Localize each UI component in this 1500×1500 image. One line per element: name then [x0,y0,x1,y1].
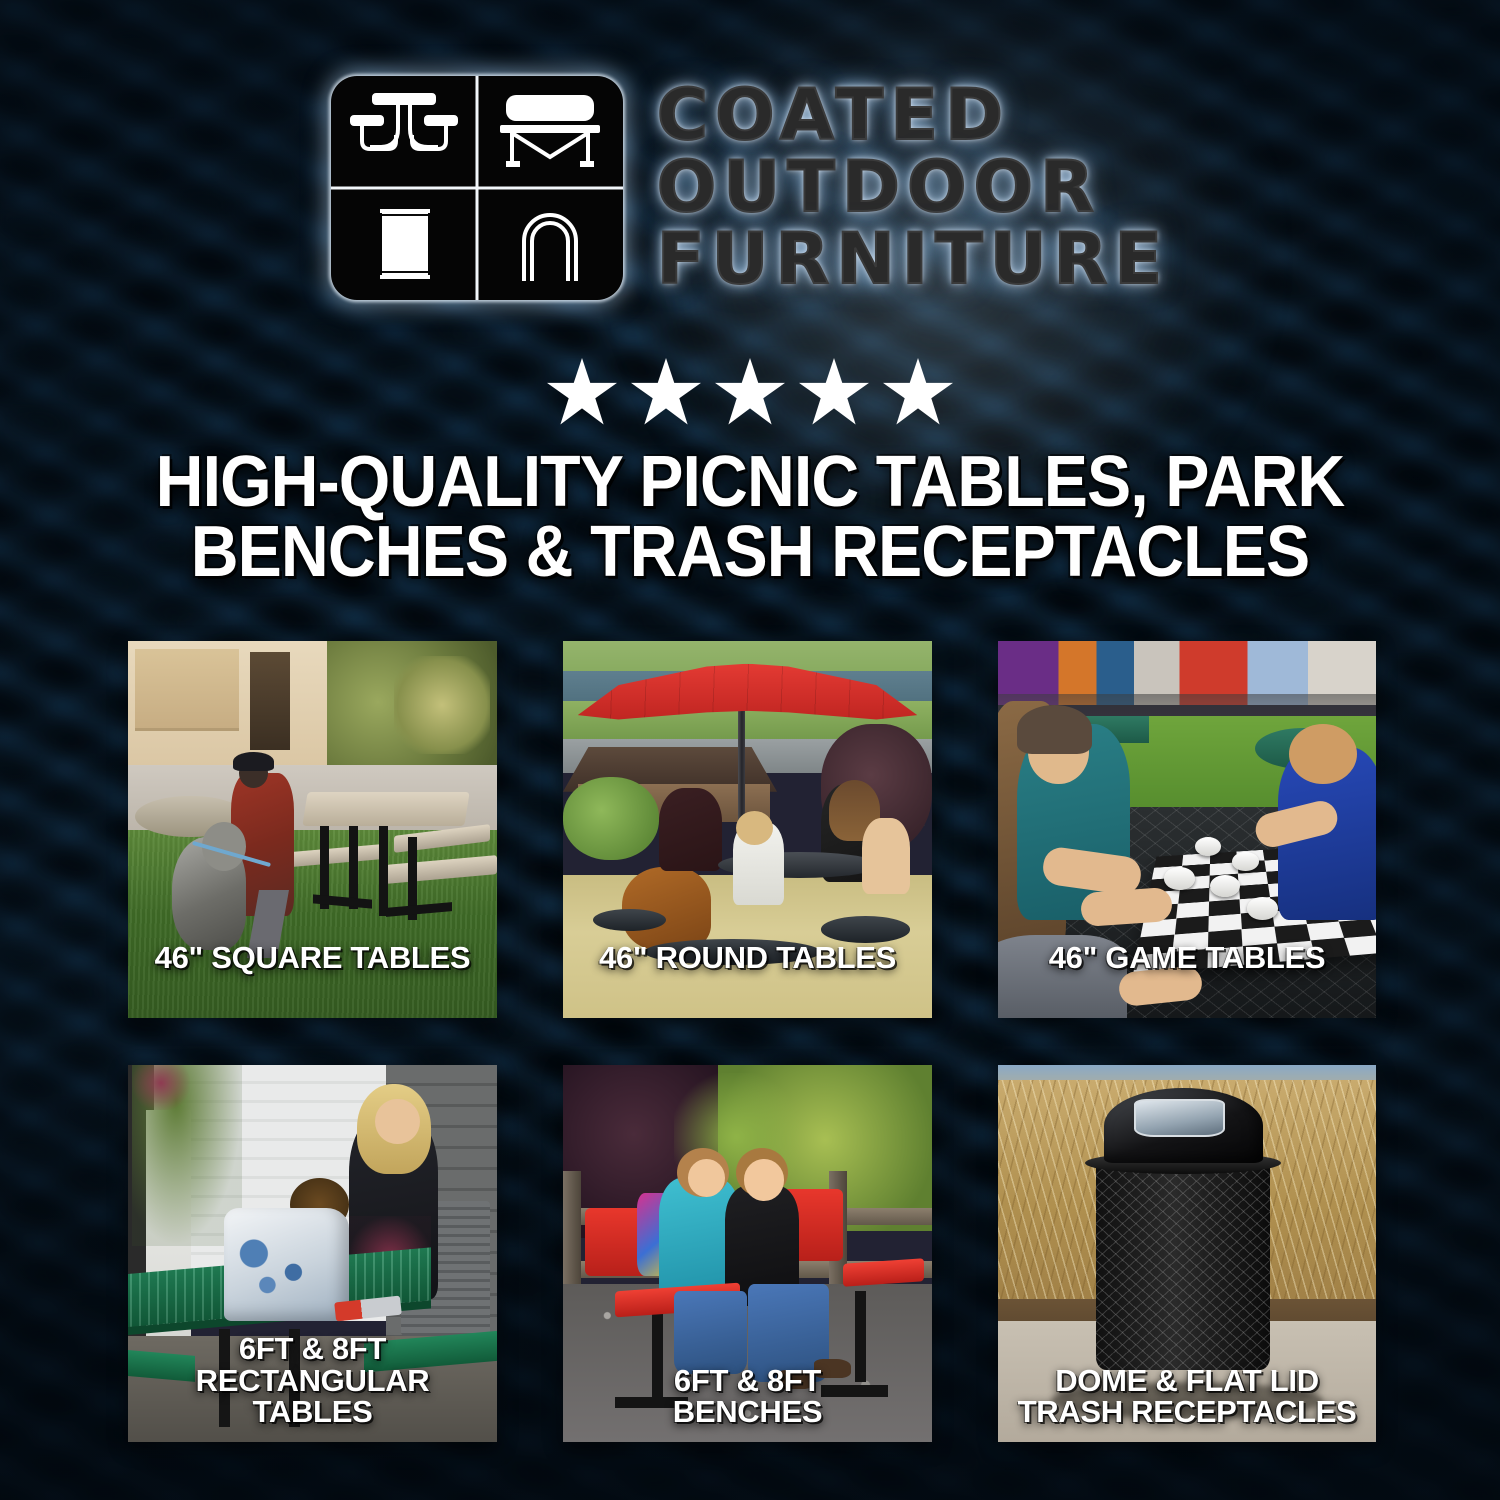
logo-icon-grid [331,76,623,300]
star-icon [799,358,869,428]
product-tile-round-tables[interactable]: 46" ROUND TABLES [563,641,932,1018]
product-caption: 6FT & 8FT RECTANGULAR TABLES [134,1333,491,1428]
product-tile-square-tables[interactable]: 46" SQUARE TABLES [128,641,497,1018]
caption-line: DOME & FLAT LID [1004,1365,1370,1397]
caption-line: 46" ROUND TABLES [569,942,926,974]
caption-line: 6FT & 8FT [569,1365,926,1397]
brand-logo: COATED OUTDOOR FURNITURE [0,76,1500,300]
picnic-table-icon [331,76,477,188]
product-caption: DOME & FLAT LID TRASH RECEPTACLES [1004,1365,1370,1428]
product-caption: 46" GAME TABLES [1004,942,1370,974]
caption-line: 6FT & 8FT [134,1333,491,1365]
caption-line: TRASH RECEPTACLES [1004,1396,1370,1428]
trash-receptacle-icon [331,188,477,300]
brand-wordmark: COATED OUTDOOR FURNITURE [657,76,1170,294]
page-title: HIGH-QUALITY PICNIC TABLES, PARK BENCHES… [115,448,1385,588]
star-icon [715,358,785,428]
headline-line-2: BENCHES & TRASH RECEPTACLES [115,518,1385,588]
star-icon [883,358,953,428]
headline-line-1: HIGH-QUALITY PICNIC TABLES, PARK [156,442,1345,522]
product-caption: 46" ROUND TABLES [569,942,926,974]
bench-icon [477,76,623,188]
caption-line: 46" SQUARE TABLES [134,942,491,974]
star-icon [547,358,617,428]
caption-line: BENCHES [569,1396,926,1428]
brand-word-2: OUTDOOR [657,152,1170,222]
product-tile-benches[interactable]: 6FT & 8FT BENCHES [563,1065,932,1442]
product-caption: 46" SQUARE TABLES [134,942,491,974]
bike-rack-arch-icon [477,188,623,300]
caption-line: RECTANGULAR TABLES [134,1365,491,1428]
product-grid: 46" SQUARE TABLES 46" ROUND TAB [128,641,1376,1442]
brand-word-3: FURNITURE [657,224,1170,294]
product-tile-rectangular-tables[interactable]: 6FT & 8FT RECTANGULAR TABLES [128,1065,497,1442]
star-icon [631,358,701,428]
brand-word-1: COATED [657,80,1170,150]
product-tile-trash-receptacles[interactable]: DOME & FLAT LID TRASH RECEPTACLES [998,1065,1376,1442]
product-tile-game-tables[interactable]: 46" GAME TABLES [998,641,1376,1018]
star-rating [0,358,1500,428]
product-caption: 6FT & 8FT BENCHES [569,1365,926,1428]
logo-grid-divider-horizontal [331,187,623,190]
caption-line: 46" GAME TABLES [1004,942,1370,974]
